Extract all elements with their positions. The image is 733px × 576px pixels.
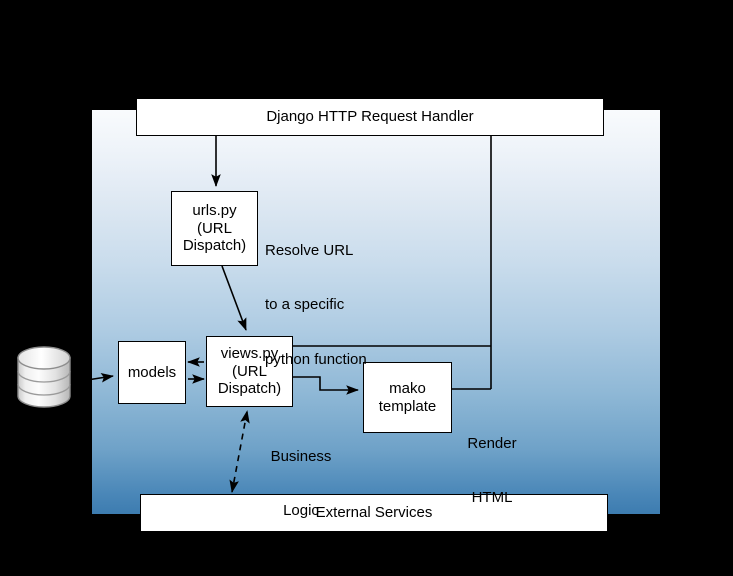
gradient-backdrop-panel [92,110,660,514]
annotation-resolve-url: Resolve URL to a specific python functio… [265,205,367,406]
annotation-line2: to a specific [265,296,367,314]
node-mako-template[interactable]: mako template [363,362,452,433]
annotation-line3: python function [265,351,367,369]
node-label: Django HTTP Request Handler [266,108,473,126]
node-label-line1: urls.py [192,202,236,220]
node-models[interactable]: models [118,341,186,404]
node-label-line2: template [379,398,437,416]
annotation-render-html: Render HTML [461,398,523,544]
annotation-business-logic: Business Logic [268,411,334,557]
annotation-line1: Render [461,435,523,453]
diagram-canvas: Django HTTP Request Handler urls.py (URL… [0,0,733,576]
node-label-line1: mako [389,380,426,398]
node-external-services[interactable]: External Services [140,494,608,532]
node-urls-py[interactable]: urls.py (URL Dispatch) [171,191,258,266]
node-label-line2: (URL [197,220,232,238]
node-label-line2: (URL [232,363,267,381]
annotation-line2: Logic [268,502,334,520]
database-cylinder-icon [18,347,70,407]
node-label-line3: Dispatch) [183,237,246,255]
node-label: models [128,364,176,382]
annotation-line1: Business [268,448,334,466]
annotation-line1: Resolve URL [265,242,367,260]
annotation-line2: HTML [461,489,523,507]
node-django-http-request-handler[interactable]: Django HTTP Request Handler [136,98,604,136]
